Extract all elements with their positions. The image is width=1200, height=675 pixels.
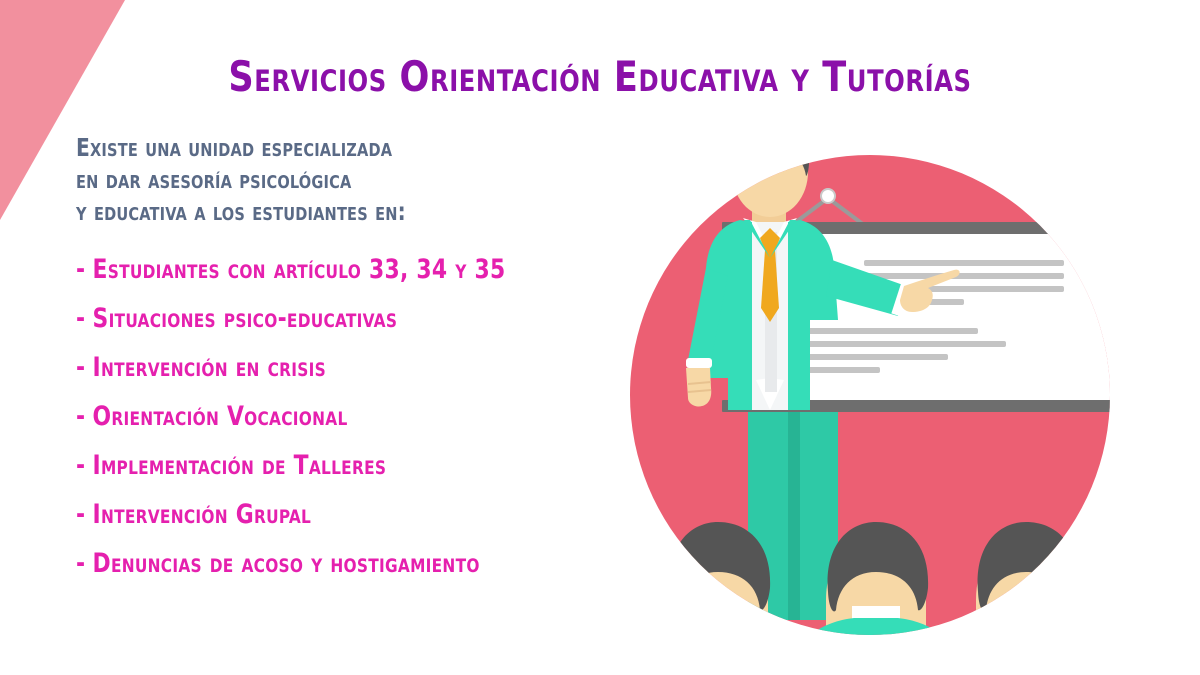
list-item-label: Situaciones psico-educativas bbox=[93, 303, 398, 334]
list-item: -Situaciones psico-educativas bbox=[76, 303, 580, 334]
presenter-left-hand bbox=[686, 368, 711, 407]
bullet-dash-icon: - bbox=[76, 499, 85, 530]
list-item-label: Intervención Grupal bbox=[93, 499, 312, 530]
presenter-with-audience-illustration bbox=[610, 110, 1150, 670]
intro-paragraph: Existe una unidad especializada en dar a… bbox=[76, 132, 580, 228]
intro-line-1: Existe una unidad especializada bbox=[76, 132, 580, 164]
list-item-label: Denuncias de acoso y hostigamiento bbox=[93, 548, 480, 579]
list-item-label: Intervención en crisis bbox=[93, 352, 326, 383]
list-item: -Implementación de Talleres bbox=[76, 450, 580, 481]
slide-canvas: Servicios Orientación Educativa y Tutorí… bbox=[0, 0, 1200, 675]
bullet-dash-icon: - bbox=[76, 254, 85, 285]
list-item: -Intervención Grupal bbox=[76, 499, 580, 530]
left-text-column: Existe una unidad especializada en dar a… bbox=[76, 132, 636, 597]
bullet-dash-icon: - bbox=[76, 352, 85, 383]
audience-members bbox=[640, 522, 1112, 670]
list-item: -Orientación Vocacional bbox=[76, 401, 580, 432]
list-item-label: Estudiantes con artículo 33, 34 y 35 bbox=[93, 254, 506, 285]
list-item: -Intervención en crisis bbox=[76, 352, 580, 383]
list-item-label: Orientación Vocacional bbox=[93, 401, 348, 432]
bullet-dash-icon: - bbox=[76, 303, 85, 334]
page-title: Servicios Orientación Educativa y Tutorí… bbox=[42, 52, 1158, 101]
list-item-label: Implementación de Talleres bbox=[93, 450, 387, 481]
services-list: -Estudiantes con artículo 33, 34 y 35 -S… bbox=[76, 254, 636, 579]
bullet-dash-icon: - bbox=[76, 401, 85, 432]
intro-line-3: y educativa a los estudiantes en: bbox=[76, 196, 580, 228]
list-item: -Estudiantes con artículo 33, 34 y 35 bbox=[76, 254, 580, 285]
bullet-dash-icon: - bbox=[76, 548, 85, 579]
bullet-dash-icon: - bbox=[76, 450, 85, 481]
intro-line-2: en dar asesoría psicológica bbox=[76, 164, 580, 196]
list-item: -Denuncias de acoso y hostigamiento bbox=[76, 548, 580, 579]
